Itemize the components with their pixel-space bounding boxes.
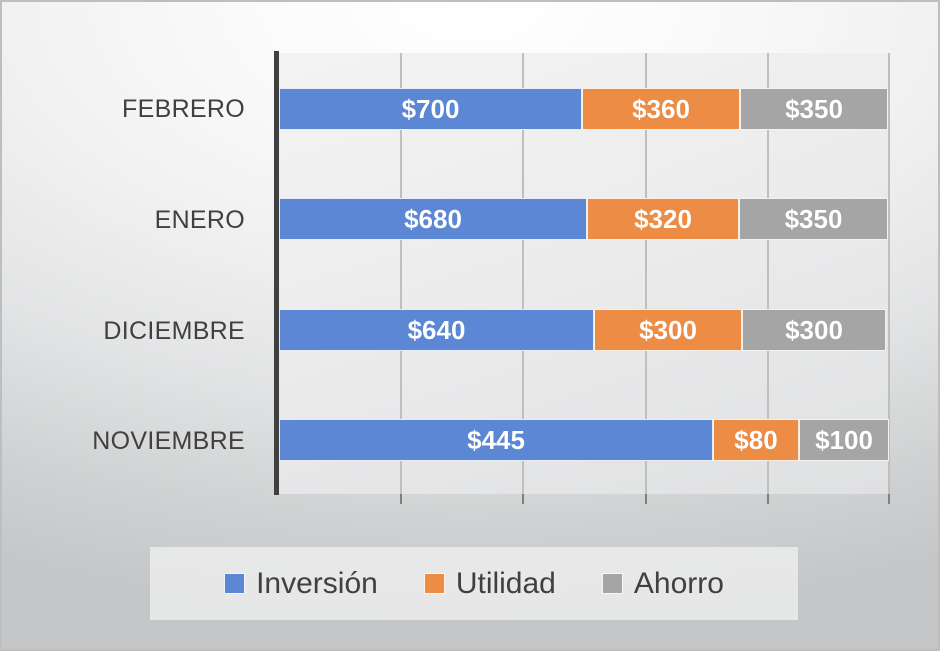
category-label-diciembre: DICIEMBRE bbox=[2, 317, 245, 346]
plot-area: $700 $360 $350 $680 $320 $350 $640 bbox=[279, 53, 890, 494]
bar-value-label: $320 bbox=[634, 206, 692, 232]
category-axis-line bbox=[274, 51, 279, 495]
bar-value-label: $300 bbox=[785, 317, 843, 343]
category-label-noviembre: NOVIEMBRE bbox=[2, 427, 245, 456]
chart-legend: Inversión Utilidad Ahorro bbox=[150, 547, 798, 620]
bar-segment-ahorro[interactable]: $100 bbox=[799, 419, 889, 461]
bar-segment-utilidad[interactable]: $80 bbox=[713, 419, 799, 461]
bar-value-label: $350 bbox=[785, 206, 843, 232]
legend-swatch-icon bbox=[424, 573, 445, 594]
bar-value-label: $350 bbox=[785, 96, 843, 122]
legend-item-utilidad[interactable]: Utilidad bbox=[424, 567, 556, 601]
legend-label: Inversión bbox=[256, 567, 378, 601]
bar-segment-utilidad[interactable]: $320 bbox=[587, 198, 739, 240]
bar-segment-inversion[interactable]: $700 bbox=[279, 88, 582, 130]
bar-value-label: $445 bbox=[467, 427, 525, 453]
bar-value-label: $80 bbox=[734, 427, 777, 453]
legend-label: Ahorro bbox=[634, 567, 724, 601]
legend-swatch-icon bbox=[602, 573, 623, 594]
bar-value-label: $680 bbox=[404, 206, 462, 232]
axis-tick-4 bbox=[767, 494, 769, 504]
bar-segment-ahorro[interactable]: $350 bbox=[739, 198, 888, 240]
legend-swatch-icon bbox=[224, 573, 245, 594]
bar-row-enero[interactable]: $680 $320 $350 bbox=[279, 198, 888, 240]
bar-segment-utilidad[interactable]: $360 bbox=[582, 88, 740, 130]
legend-item-inversion[interactable]: Inversión bbox=[224, 567, 378, 601]
bar-segment-inversion[interactable]: $445 bbox=[279, 419, 713, 461]
bar-segment-inversion[interactable]: $640 bbox=[279, 309, 594, 351]
axis-tick-1 bbox=[400, 494, 402, 504]
bar-segment-ahorro[interactable]: $300 bbox=[742, 309, 886, 351]
bar-value-label: $100 bbox=[815, 427, 873, 453]
bar-segment-utilidad[interactable]: $300 bbox=[594, 309, 742, 351]
bar-value-label: $360 bbox=[632, 96, 690, 122]
bar-segment-ahorro[interactable]: $350 bbox=[740, 88, 888, 130]
bar-value-label: $700 bbox=[402, 96, 460, 122]
bar-row-febrero[interactable]: $700 $360 $350 bbox=[279, 88, 888, 130]
axis-tick-2 bbox=[522, 494, 524, 504]
bar-value-label: $640 bbox=[408, 317, 466, 343]
category-label-febrero: FEBRERO bbox=[2, 95, 245, 124]
bar-segment-inversion[interactable]: $680 bbox=[279, 198, 587, 240]
bar-row-noviembre[interactable]: $445 $80 $100 bbox=[279, 419, 889, 461]
category-label-enero: ENERO bbox=[2, 206, 245, 235]
bar-value-label: $300 bbox=[639, 317, 697, 343]
bar-row-diciembre[interactable]: $640 $300 $300 bbox=[279, 309, 886, 351]
legend-item-ahorro[interactable]: Ahorro bbox=[602, 567, 724, 601]
axis-tick-3 bbox=[645, 494, 647, 504]
legend-label: Utilidad bbox=[456, 567, 556, 601]
chart-container: $700 $360 $350 $680 $320 $350 $640 bbox=[0, 0, 940, 651]
axis-tick-5 bbox=[888, 494, 890, 504]
